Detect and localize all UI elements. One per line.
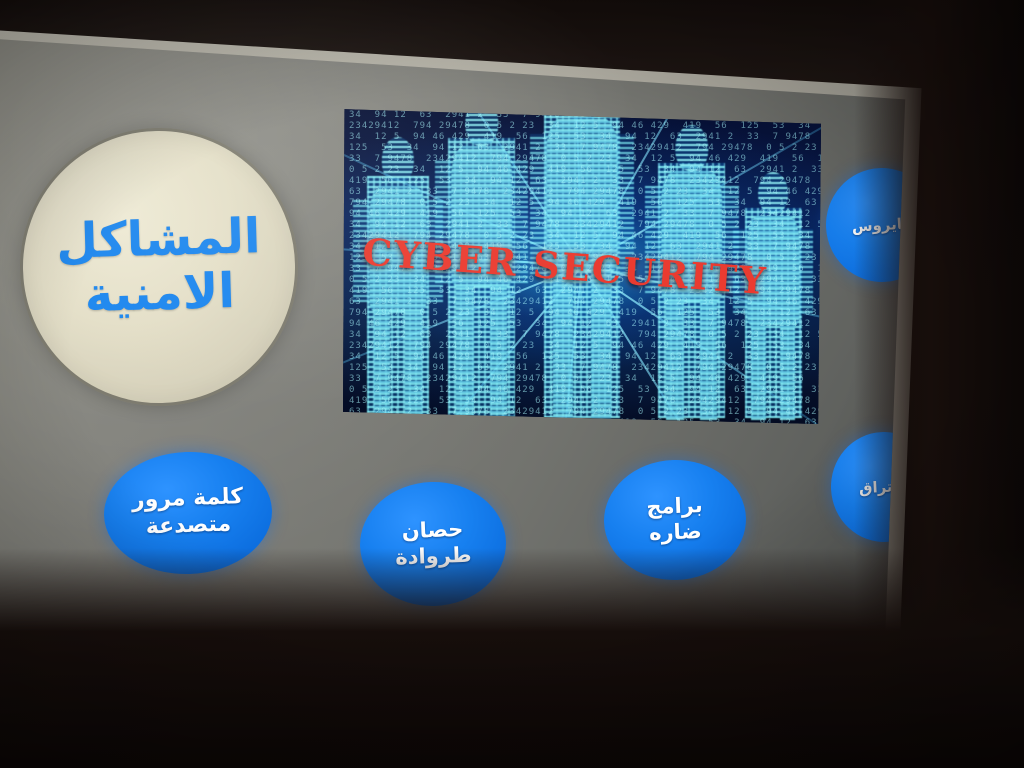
cyber-security-image: 34 94 12 63 2941 2 33 7 9478 23429412 79… [343, 106, 821, 424]
slide-title-circle: المشاكل الامنية [16, 124, 302, 410]
bubble-malware-label: برامج ضاره [646, 493, 704, 546]
room-photograph: المشاكل الامنية [0, 0, 1024, 768]
room-foreground-dark-area [0, 548, 1024, 768]
bubble-cracked-password-label: كلمة مرور متصدعة [132, 484, 245, 542]
slide-title-text: المشاكل الامنية [41, 210, 276, 324]
